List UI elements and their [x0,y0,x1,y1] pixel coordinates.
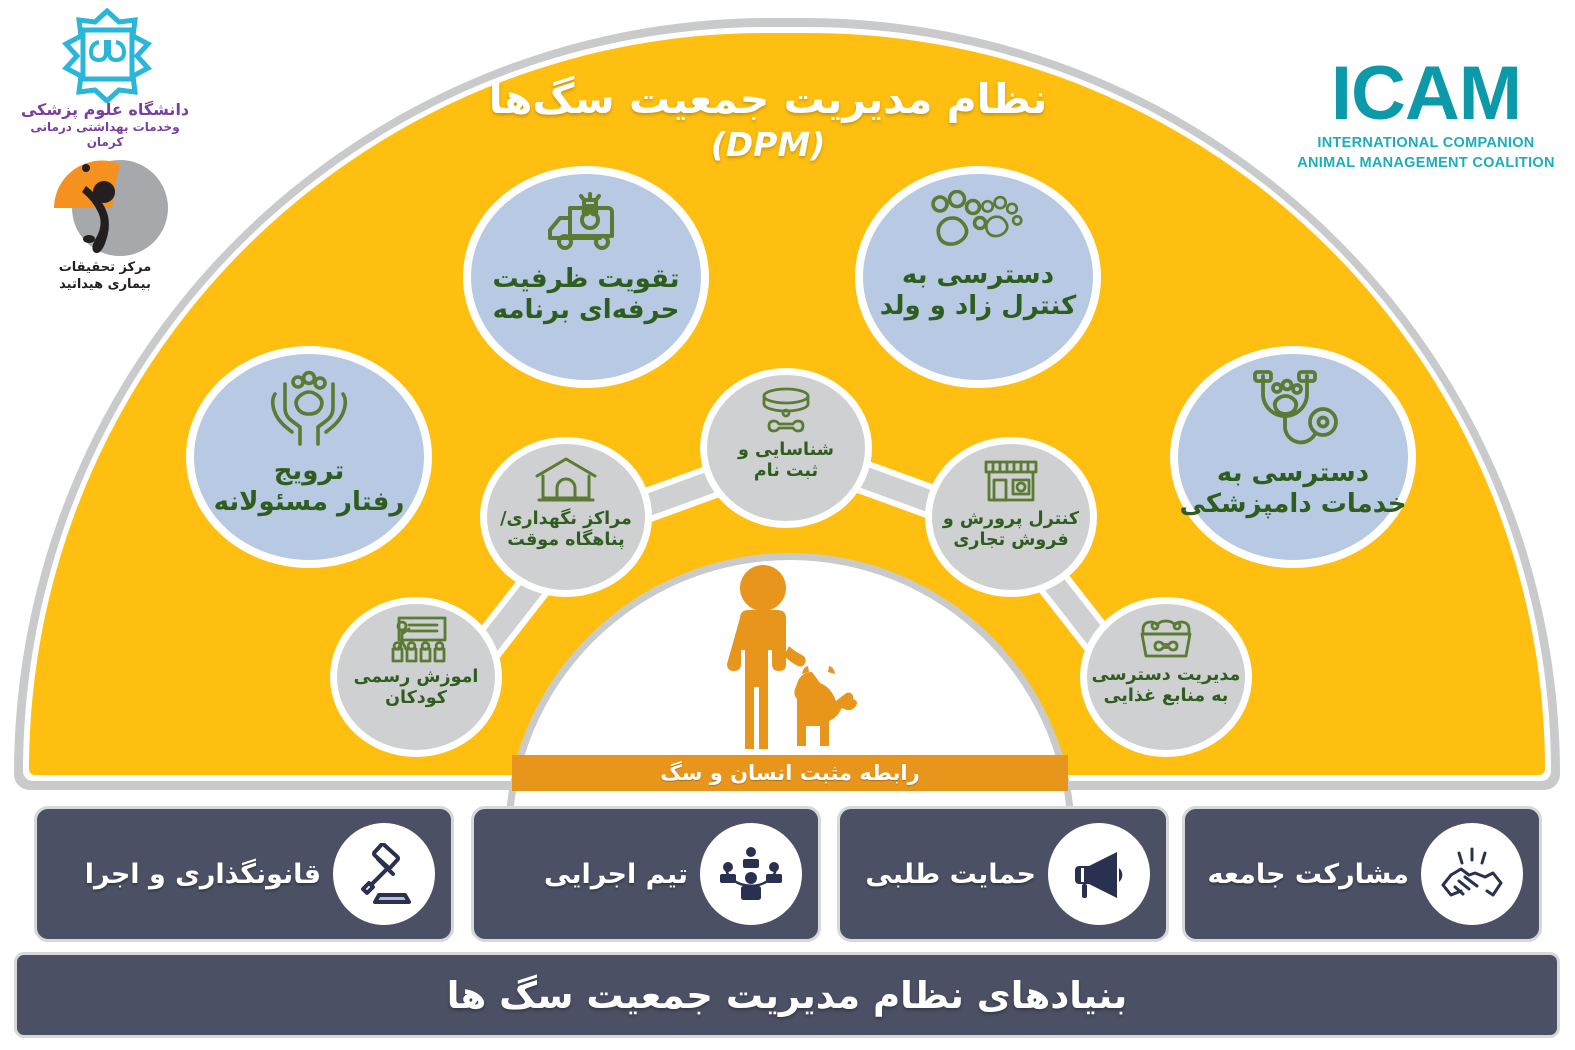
food-bowl-icon [1135,616,1197,662]
node-label: دسترسی به خدمات دامپزشکی [1180,458,1407,519]
node-veterinary-services[interactable]: دسترسی به خدمات دامپزشکی [1170,346,1416,568]
stethoscope-paw-icon [1243,370,1343,452]
foundation-legislation[interactable]: قانونگذاری و اجرا [34,806,454,942]
icam-subtitle: INTERNATIONAL COMPANION ANIMAL MANAGEMEN… [1291,134,1561,173]
person-with-dog-icon [690,560,890,760]
icam-subtitle-line1: INTERNATIONAL COMPANION [1317,135,1534,151]
foundation-banner-label: بنیادهای نظام مدیریت جمعیت سگ ها [447,974,1128,1017]
node-label: تقویت ظرفیت حرفه‌ای برنامه [493,264,680,325]
research-center-caption: مرکز تحقیقات بیماری هیداتید [20,260,190,294]
icam-wordmark: ICAM [1291,58,1561,130]
title-acronym: (DPM) [388,125,1148,164]
university-line2: وخدمات بهداشتی درمانی کرمان [20,120,190,150]
foundation-advocacy[interactable]: حمایت طلبی [837,806,1169,942]
megaphone-icon [1048,823,1150,925]
university-caption: دانشگاه علوم پزشکی وخدمات بهداشتی درمانی… [20,100,190,150]
mobile-clinic-van-icon [540,190,632,258]
kmu-star-icon [55,8,160,103]
research-center-icon [42,156,182,261]
research-center-line2: بیماری هیداتید [59,277,151,292]
node-responsible-behaviour[interactable]: ترویج رفتار مسئولانه [186,346,432,568]
pet-shop-icon [981,456,1041,506]
foundation-community-engagement[interactable]: مشارکت جامعه [1182,806,1542,942]
classroom-teaching-icon [383,616,449,664]
shelter-house-icon [533,456,599,506]
hands-holding-paw-icon [261,370,357,450]
university-logo: دانشگاه علوم پزشکی وخدمات بهداشتی درمانی… [20,8,190,308]
node-label: دسترسی به کنترل زاد و ولد [880,260,1077,321]
node-label: شناسایی و ثبت نام [738,440,834,481]
research-center-line1: مرکز تحقیقات [59,260,152,275]
foundation-label: حمایت طلبی [865,859,1036,890]
node-formal-education[interactable]: اموزش رسمی کودکان [330,597,502,757]
node-label: کنترل پرورش و فروش تجاری [943,509,1079,550]
node-identification-registration[interactable]: شناسایی و ثبت نام [700,368,872,528]
infographic-root: نظام مدیریت جمعیت سگ‌ها (DPM) تقویت ظرفی… [0,0,1575,1050]
title-main: نظام مدیریت جمعیت سگ‌ها [388,76,1148,123]
foundation-label: تیم اجرایی [544,859,688,890]
foundation-label: مشارکت جامعه [1208,859,1410,890]
icam-subtitle-line2: ANIMAL MANAGEMENT COALITION [1297,155,1555,171]
meeting-team-icon [700,823,802,925]
two-paws-icon [923,190,1033,254]
node-label: مدیریت دسترسی به منابع غذایی [1092,665,1241,706]
foundation-label: قانونگذاری و اجرا [85,859,321,890]
node-breeding-sales-control[interactable]: کنترل پرورش و فروش تجاری [925,437,1097,597]
university-line1: دانشگاه علوم پزشکی [20,100,190,120]
icam-logo: ICAM INTERNATIONAL COMPANION ANIMAL MANA… [1291,58,1561,173]
handshake-icon [1421,823,1523,925]
core-label: رابطه مثبت انسان و سگ [660,761,919,785]
foundation-executive-team[interactable]: تیم اجرایی [471,806,821,942]
collar-tag-icon [754,387,818,437]
node-food-resource-access[interactable]: مدیریت دسترسی به منابع غذایی [1080,597,1252,757]
node-label: مراکز نگهداری/ پناهگاه موقت [500,509,632,550]
gavel-icon [333,823,435,925]
node-shelters[interactable]: مراکز نگهداری/ پناهگاه موقت [480,437,652,597]
page-title: نظام مدیریت جمعیت سگ‌ها (DPM) [388,76,1148,164]
core-relationship-bar: رابطه مثبت انسان و سگ [512,755,1068,791]
node-label: اموزش رسمی کودکان [354,667,479,708]
foundation-banner: بنیادهای نظام مدیریت جمعیت سگ ها [14,952,1560,1038]
foundation-row: قانونگذاری و اجرا تیم اجرایی [14,800,1560,948]
node-reproduction-control[interactable]: دسترسی به کنترل زاد و ولد [855,166,1101,388]
node-label: ترویج رفتار مسئولانه [214,456,405,517]
node-professional-capacity[interactable]: تقویت ظرفیت حرفه‌ای برنامه [463,166,709,388]
